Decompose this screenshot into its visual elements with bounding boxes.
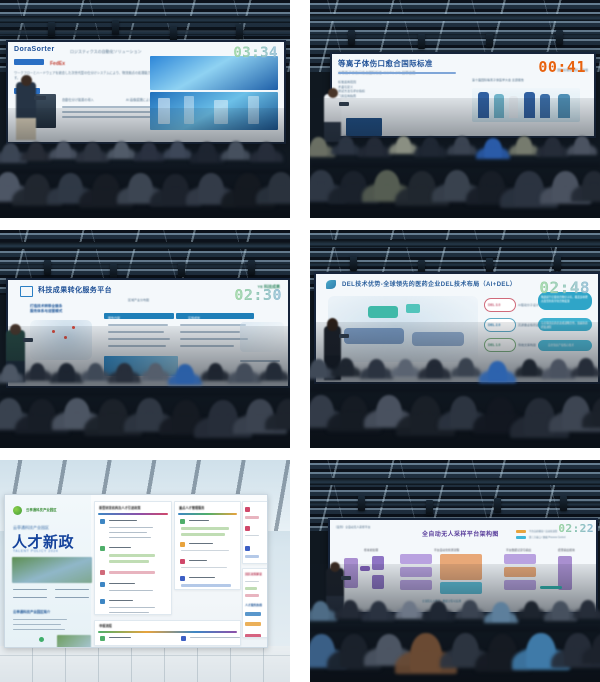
- ceiling-lamp: [110, 264, 117, 279]
- region-map: [30, 320, 92, 360]
- flow-node: [504, 567, 536, 577]
- legend-swatch: [516, 530, 526, 533]
- folder-icon: [20, 286, 33, 297]
- callout-text: 构建超千亿级化合物分子库，覆盖多种靶点类型的先导化合物发现: [541, 296, 589, 303]
- podium: [346, 118, 382, 136]
- flow-node: [344, 558, 358, 588]
- ceiling-lamp: [426, 500, 433, 515]
- item-marker: [100, 570, 105, 575]
- item-marker: [180, 542, 185, 547]
- partner-logo: FedEx: [50, 61, 65, 69]
- desk-row: [310, 192, 600, 198]
- countdown-timer: 02:48: [539, 278, 590, 297]
- flow-node: [400, 580, 432, 590]
- desk-row: [310, 626, 600, 632]
- ceiling-lamp: [112, 20, 119, 35]
- callout-text: 自主知识产权核心技术: [548, 344, 588, 348]
- ceiling-lamp: [48, 22, 55, 37]
- panel-middle-left[interactable]: 科技成果转化服务平台 打造技术转移全链条 服务体系与运营模式 区域产业分布图 服…: [0, 230, 290, 448]
- ceiling-lamp: [560, 496, 567, 511]
- speaker-head: [10, 324, 21, 335]
- ceiling-lamp: [358, 496, 365, 511]
- flow-node: [400, 554, 432, 564]
- ceiling-lamp: [170, 26, 177, 41]
- truss-beam: [0, 242, 290, 249]
- panel-bottom-right[interactable]: （案例）全自动无人采样平台 全自动无人采样平台架构图 平台自研模块 / 自动化流…: [310, 460, 600, 682]
- desk-row: [310, 418, 600, 424]
- column-heading: 新型研发机构及人才引进政策: [99, 505, 140, 510]
- column-header: 平台自动化检测流程: [434, 548, 459, 552]
- poster-bottom-card: 申报流程: [94, 620, 241, 646]
- poster-column-1: 新型研发机构及人才引进政策: [94, 501, 172, 615]
- ceiling-lamp: [486, 258, 493, 273]
- panel-middle-right[interactable]: DEL技术优势-全球领先的医药企业DEL技术布局（AI+DEL） DEL 3.0…: [310, 230, 600, 448]
- photo-collage: DoraSorter ロジスティクスの自動化ソリューション FedEx ワークフ…: [0, 0, 600, 680]
- desk-row: [310, 386, 600, 392]
- presentation-screen: 科技成果转化服务平台 打造技术转移全链条 服务体系与运营模式 区域产业分布图 服…: [6, 278, 290, 388]
- slide-title: 全自动无人采样平台架构图: [422, 529, 499, 538]
- item-marker: [100, 582, 105, 587]
- truss-beam: [310, 502, 600, 507]
- flow-node: [372, 556, 384, 570]
- atrium-scene: 云亭通科技产业园区 云亭通科技产业园区 人才新政 TALENT POLICY 2…: [0, 460, 290, 682]
- leaf-logo-icon: [13, 506, 22, 515]
- ceiling-lamp: [44, 260, 51, 275]
- speaker-figure: [16, 82, 36, 140]
- countdown-timer: 03:34: [233, 45, 278, 61]
- flow-node-secondary: [440, 582, 482, 594]
- legend-label: 第三方接口 / 数据 Process Control: [529, 536, 577, 540]
- item-marker: [100, 519, 105, 524]
- poster-left-column: 云亭通科技产业园区 云亭通科技产业园区 人才新政 TALENT POLICY 2…: [5, 495, 91, 647]
- column-header: 平台数据记录与输出: [506, 548, 531, 552]
- microphone-icon: [341, 576, 351, 580]
- desk-row: [0, 168, 290, 174]
- ceiling-lamp: [418, 34, 425, 49]
- ceiling-lamp: [556, 30, 563, 45]
- slide-sub-heading: 打造技术转移全链条 服务体系与运营模式: [30, 304, 90, 315]
- microphone-icon: [339, 102, 349, 106]
- mini-map: [240, 322, 284, 352]
- flow-node: [504, 580, 536, 590]
- poster-section-intro: 云亭通科技产业园区简介: [13, 609, 50, 614]
- desk-row: [310, 656, 600, 662]
- company-logo-icon: [326, 280, 336, 289]
- presentation-screen: （案例）全自动无人采样平台 全自动无人采样平台架构图 平台自研模块 / 自动化流…: [328, 518, 598, 614]
- item-marker: [100, 599, 105, 604]
- ceiling-lamp: [178, 262, 185, 277]
- presentation-screen: DoraSorter ロジスティクスの自動化ソリューション FedEx ワークフ…: [6, 40, 286, 144]
- flow-footer-note: 全流程无人值守，数据全程可追溯: [422, 600, 461, 604]
- presentation-screen: DEL技术优势-全球领先的医药企业DEL技术布局（AI+DEL） DEL 3.0…: [314, 272, 600, 384]
- legend-swatch: [516, 536, 526, 539]
- slide-body-right: 第十届国际等离子体医学大会 主题报告: [472, 78, 558, 83]
- pill-note: AI驱动分子设计: [518, 303, 539, 308]
- side-panel-sub: 人才服务热线: [245, 603, 262, 607]
- poster-column-3a: [242, 501, 268, 564]
- column-heading: 重点人才管理服务: [179, 505, 205, 510]
- ceiling-lamp: [486, 32, 493, 47]
- side-panel-heading: 园区政策解读: [245, 572, 262, 576]
- speaker-head: [21, 75, 32, 86]
- countdown-timer: 00:41: [538, 58, 586, 76]
- speaker-head: [330, 562, 340, 572]
- ceiling-lamp: [236, 24, 243, 39]
- truss-beam: [310, 14, 600, 21]
- ceiling-lamp: [248, 260, 255, 275]
- poster-column-3b: 园区政策解读 人才服务热线: [242, 568, 268, 638]
- poster-headline-en: TALENT POLICY 2024: [13, 549, 58, 553]
- pill-label: DEL 1.0: [488, 343, 500, 348]
- microphone-icon: [23, 338, 33, 342]
- org-name: 云亭通科技产业园区: [26, 507, 57, 512]
- ceiling-lamp: [350, 256, 357, 271]
- flow-node: [400, 567, 432, 577]
- microphone-icon: [339, 334, 349, 338]
- flow-node: [372, 575, 384, 589]
- item-marker: [180, 576, 185, 581]
- poster-board: 云亭通科技产业园区 云亭通科技产业园区 人才新政 TALENT POLICY 2…: [4, 494, 268, 648]
- truss-beam: [310, 478, 600, 485]
- item-marker: [180, 519, 185, 524]
- truss-beam: [0, 16, 290, 23]
- slide-body-left: 标准适用范围 术语与定义 测试方法与评价指标 临床应用指南: [338, 80, 434, 98]
- table-header-label: 服务内容: [108, 316, 120, 321]
- table-header-label: 实施成效: [188, 316, 200, 321]
- slide-title: ロジスティクスの自動化ソリューション: [70, 49, 190, 55]
- slide-note: 区域产业分布图: [128, 298, 228, 303]
- photo-strip: [104, 356, 178, 376]
- flow-node: [504, 554, 536, 564]
- truss-beam: [0, 30, 290, 35]
- desk-row: [0, 390, 290, 396]
- flow-node-highlight: [440, 554, 482, 580]
- panel-top-right[interactable]: 等离子体伤口愈合国际标准 冷等离子体伤口愈合国际标准 ISO/TC 276 起草…: [310, 0, 600, 218]
- pill-note: 高通量虚拟筛选: [518, 323, 539, 328]
- machine-illustration: [150, 56, 278, 90]
- item-marker: [100, 546, 105, 551]
- panel-top-left[interactable]: DoraSorter ロジスティクスの自動化ソリューション FedEx ワークフ…: [0, 0, 290, 218]
- slide-brand-mark: YE 科技成果: [258, 284, 280, 290]
- column-header: 结果输出模块: [558, 548, 575, 552]
- pill-note: 传统文库构建: [518, 343, 536, 348]
- pill-label: DEL 2.0: [488, 323, 500, 328]
- desk-row: [0, 420, 290, 426]
- poster-photo: [12, 557, 92, 583]
- poster-column-2: 重点人才管理服务: [174, 501, 242, 590]
- slide-title: 科技成果转化服务平台: [38, 285, 112, 295]
- slide-corner-note: （案例）全自动无人采样平台: [334, 525, 370, 529]
- speaker-head: [328, 88, 338, 98]
- microphone-icon: [34, 96, 46, 100]
- panel-bottom-left[interactable]: 云亭通科技产业园区 云亭通科技产业园区 人才新政 TALENT POLICY 2…: [0, 460, 290, 682]
- truss-beam: [310, 240, 600, 247]
- item-marker: [180, 559, 185, 564]
- slide-caption-a: 自動仕分け装置の導入: [62, 98, 94, 103]
- flow-node-output: [558, 556, 572, 590]
- callout-text: 与全球顶尖药企达成战略合作，加速新药研发进程: [541, 322, 589, 329]
- ceiling-lamp: [348, 30, 355, 45]
- slide-title: DEL技术优势-全球领先的医药企业DEL技术布局（AI+DEL）: [342, 279, 516, 288]
- tiled-floor: [0, 646, 290, 682]
- countdown-timer: 02:22: [558, 522, 594, 535]
- ceiling-lamp: [494, 498, 501, 513]
- slide-tag: [14, 59, 44, 65]
- desk-row: [310, 162, 600, 168]
- ceiling-lamp: [554, 256, 561, 271]
- bottom-heading: 申报流程: [99, 623, 112, 628]
- desk-row: [0, 196, 290, 202]
- speaker-head: [327, 318, 338, 331]
- column-header: 样本前处理: [364, 548, 378, 552]
- pill-label: DEL 3.0: [488, 303, 500, 308]
